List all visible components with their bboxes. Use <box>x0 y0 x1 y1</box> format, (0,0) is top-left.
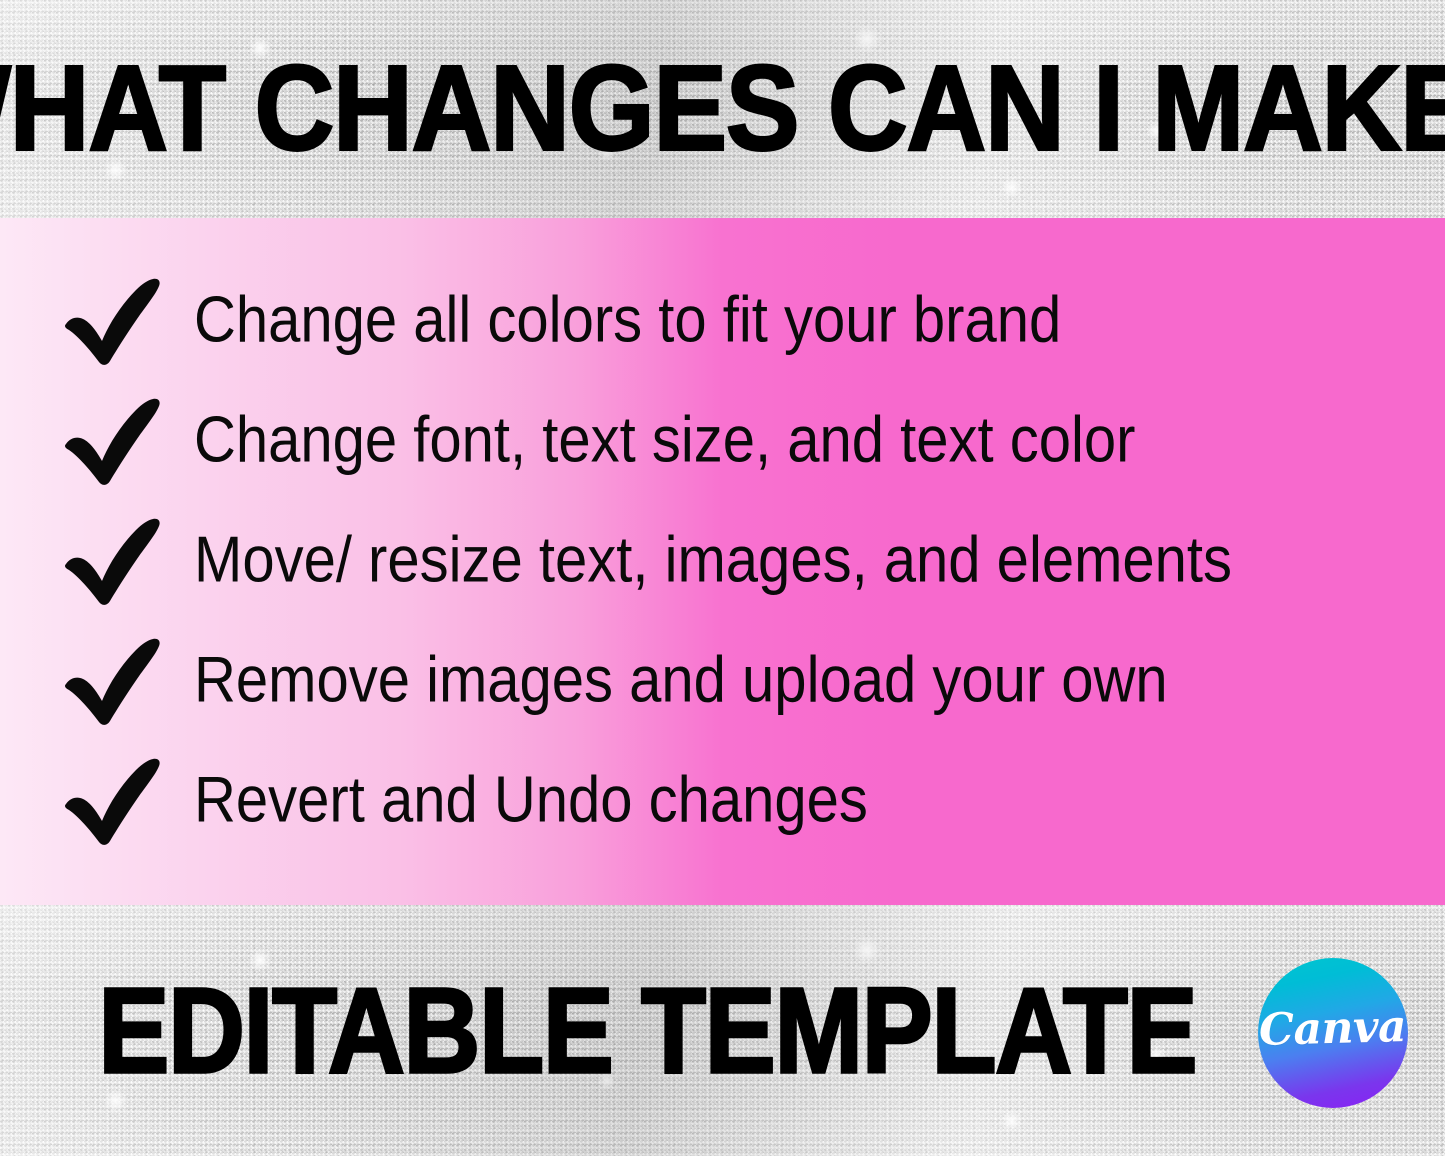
checkmark-icon <box>60 754 168 846</box>
list-item-label: Revert and Undo changes <box>194 767 868 832</box>
list-item: Remove images and upload your own <box>0 620 1445 740</box>
canva-logo-icon: Canva <box>1258 958 1408 1108</box>
footer-title-text: EDITABLE TEMPLATE <box>99 970 1197 1091</box>
checkmark-icon <box>60 514 168 606</box>
page-title: WHAT CHANGES CAN I MAKE? <box>0 49 1445 170</box>
list-item-label: Change font, text size, and text color <box>194 407 1135 472</box>
list-item: Revert and Undo changes <box>0 740 1445 860</box>
canva-wordmark-label: Canva <box>1259 1005 1407 1053</box>
checkmark-icon <box>60 274 168 366</box>
list-item: Move/ resize text, images, and elements <box>0 500 1445 620</box>
list-item: Change all colors to fit your brand <box>0 260 1445 380</box>
list-item-label: Change all colors to fit your brand <box>194 287 1061 352</box>
feature-list-band: Change all colors to fit your brand Chan… <box>0 218 1445 905</box>
checkmark-icon <box>60 394 168 486</box>
list-item: Change font, text size, and text color <box>0 380 1445 500</box>
list-item-label: Remove images and upload your own <box>194 647 1168 712</box>
checkmark-icon <box>60 634 168 726</box>
list-item-label: Move/ resize text, images, and elements <box>194 527 1232 592</box>
poster-canvas: WHAT CHANGES CAN I MAKE? Change all colo… <box>0 0 1445 1156</box>
header-band: WHAT CHANGES CAN I MAKE? <box>0 0 1445 218</box>
footer-title: EDITABLE TEMPLATE <box>0 978 1445 1084</box>
footer-band: EDITABLE TEMPLATE <box>0 905 1445 1156</box>
